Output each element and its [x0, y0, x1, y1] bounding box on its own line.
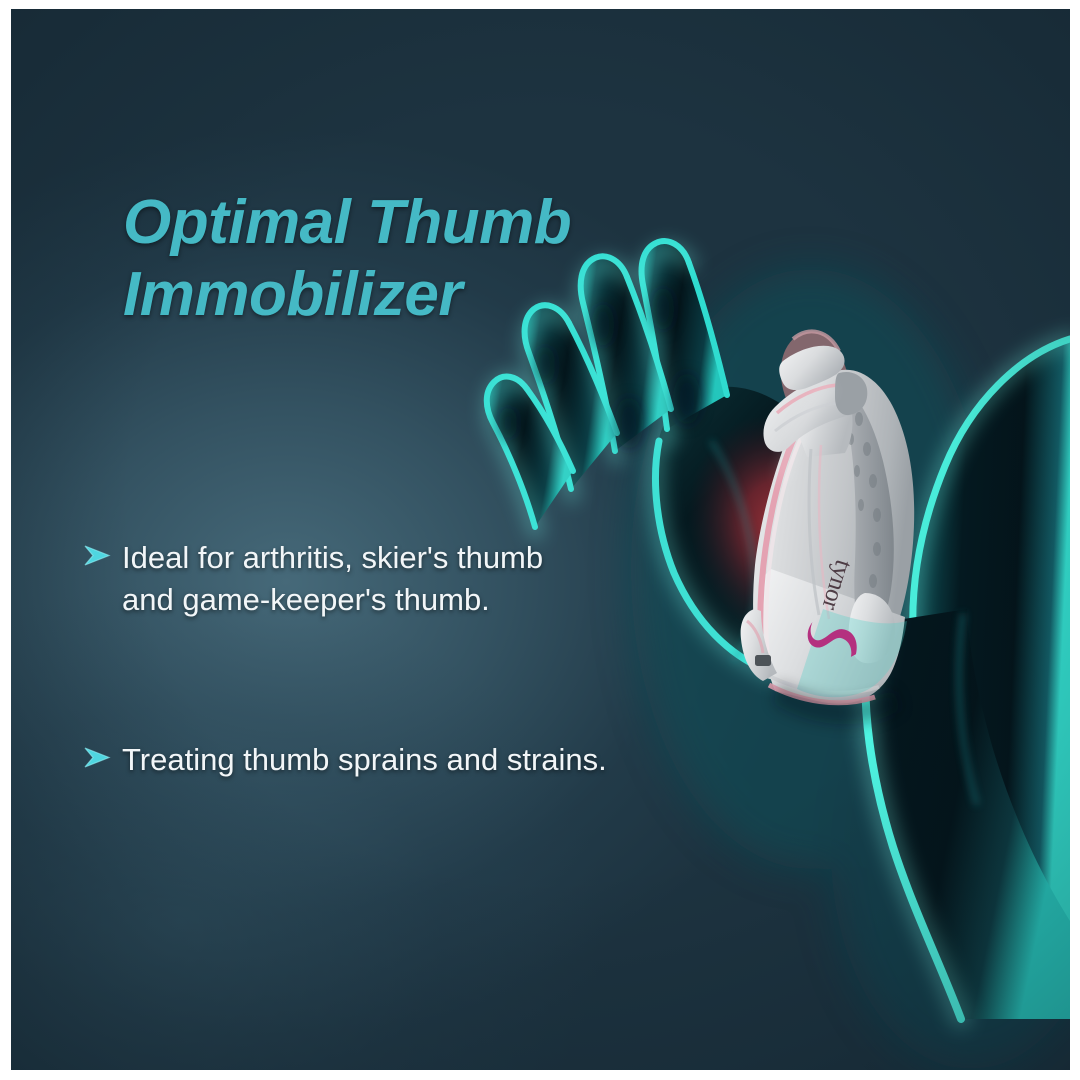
list-item-line-1: Ideal for arthritis, skier's thumb — [122, 537, 783, 579]
list-item-line-1: Treating thumb sprains and strains. — [122, 739, 783, 781]
list-item-text: Ideal for arthritis, skier's thumb and g… — [117, 537, 783, 621]
list-item: Ideal for arthritis, skier's thumb and g… — [83, 537, 783, 621]
poster-frame: tynor Optimal Thumb Immobilizer Id — [0, 0, 1080, 1080]
headline-line-1: Optimal Thumb — [123, 187, 683, 259]
list-item-text: Treating thumb sprains and strains. — [117, 739, 783, 781]
page-title: Optimal Thumb Immobilizer — [123, 187, 683, 331]
list-item-line-2: and game-keeper's thumb. — [122, 579, 783, 621]
poster-canvas: tynor Optimal Thumb Immobilizer Id — [11, 9, 1070, 1070]
arrowhead-bullet-icon — [83, 745, 117, 771]
arrowhead-bullet-icon — [83, 543, 117, 569]
feature-list: Ideal for arthritis, skier's thumb and g… — [83, 537, 783, 781]
headline-line-2: Immobilizer — [123, 259, 683, 331]
list-item: Treating thumb sprains and strains. — [83, 739, 783, 781]
